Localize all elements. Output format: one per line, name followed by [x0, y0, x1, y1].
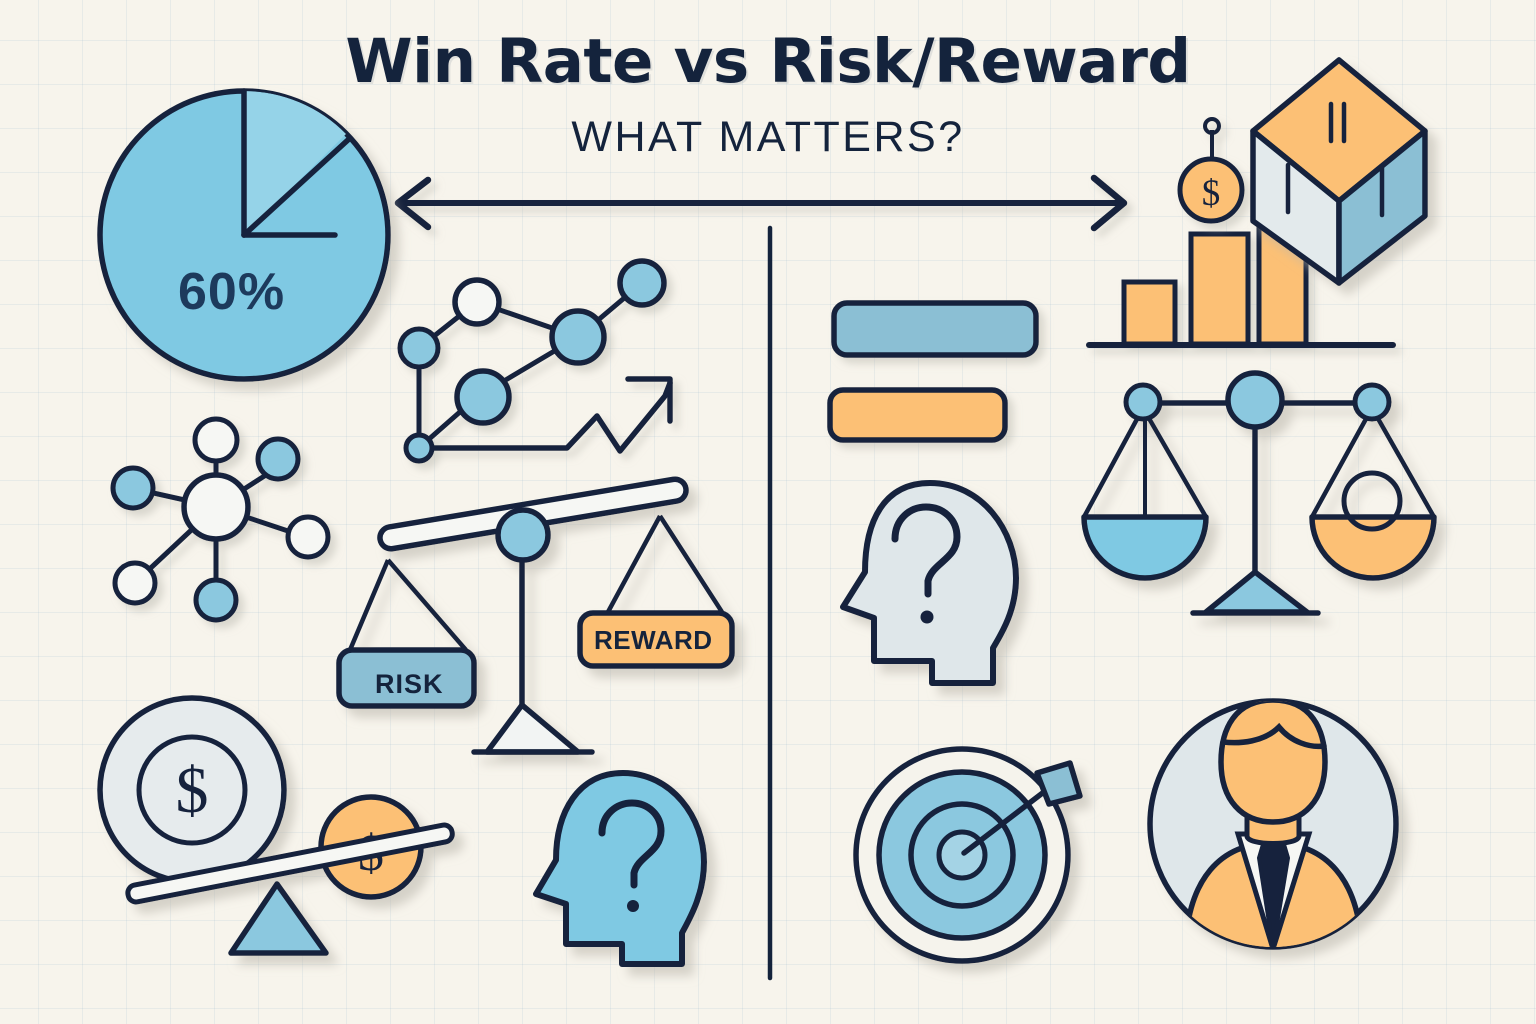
businessman-avatar [1150, 700, 1396, 960]
balance-scale [1084, 373, 1434, 613]
target-with-arrow [856, 749, 1080, 961]
svg-text:$: $ [1202, 173, 1221, 214]
thinking-head-grey [843, 483, 1016, 683]
bar-1 [1124, 282, 1175, 344]
page-subtitle: WHAT MATTERS? [0, 113, 1536, 162]
bar-blue [834, 303, 1036, 355]
risk-reward-scale [339, 478, 732, 752]
bar-2 [1191, 234, 1248, 344]
coin-seesaw: $ $ [100, 698, 454, 953]
bar-orange [830, 390, 1005, 440]
infographic-canvas: $ $ [0, 0, 1536, 1024]
comparison-bars [830, 303, 1036, 440]
hub-network-diagram [113, 419, 328, 620]
node-line-graph [400, 261, 670, 461]
page-title: Win Rate vs Risk/Reward [0, 26, 1536, 97]
thinking-head-blue [536, 773, 704, 964]
double-headed-arrow [398, 178, 1124, 228]
dollar-glyph: $ [176, 754, 209, 827]
